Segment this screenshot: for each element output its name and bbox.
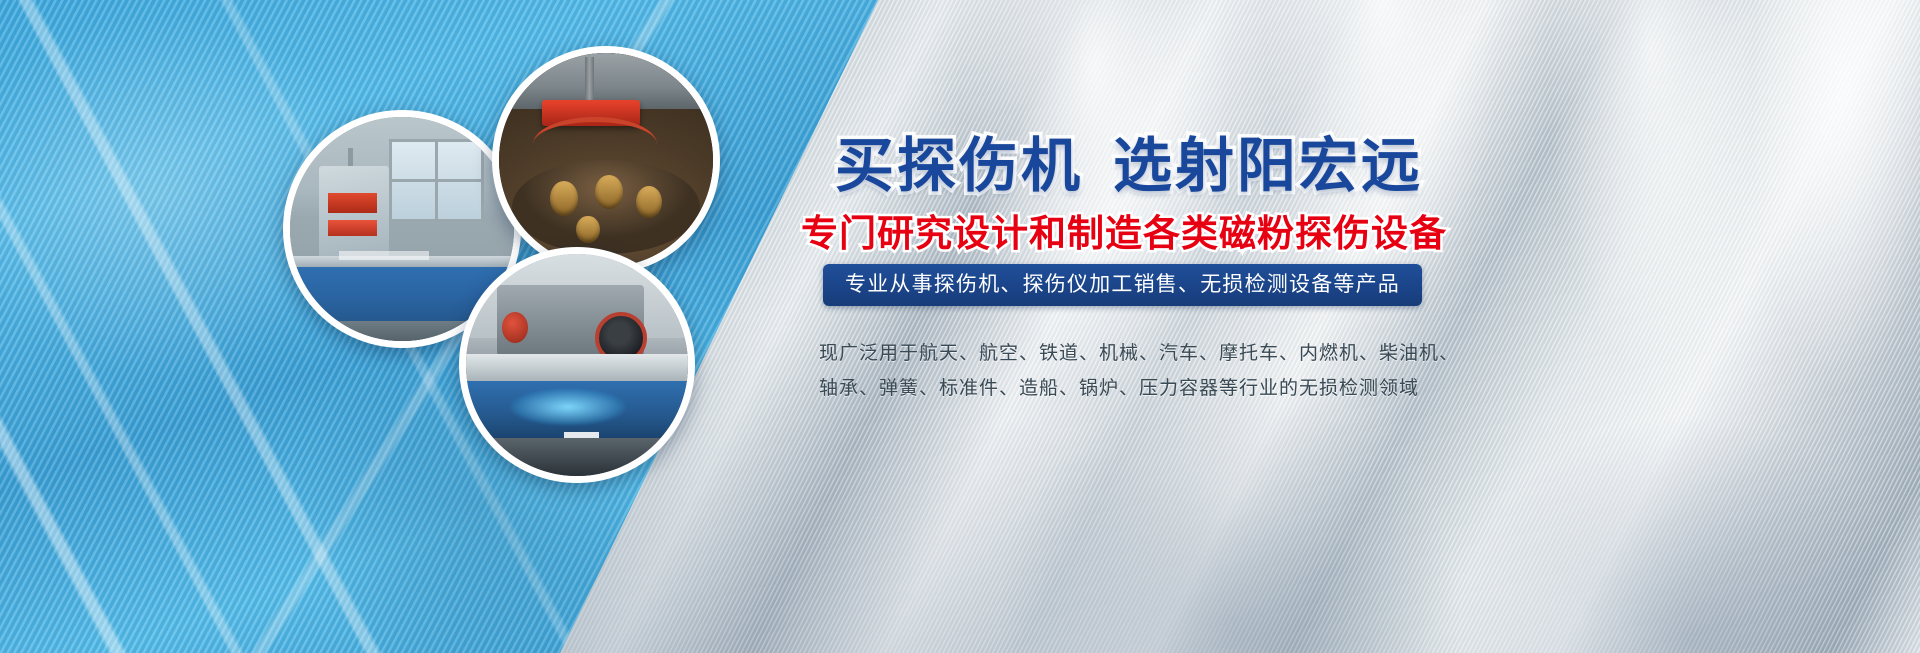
marketing-copy-block: 买探伤机选射阳宏远 专门研究设计和制造各类磁粉探伤设备 专业从事探伤机、探伤仪加… [795, 0, 1895, 653]
brass-boss-1 [550, 181, 578, 215]
headline: 买探伤机选射阳宏远 [835, 118, 1423, 203]
brass-boss-3 [636, 186, 662, 218]
window-shape [389, 139, 485, 221]
machine-red-part-1 [328, 193, 377, 213]
red-handwheel [502, 312, 529, 343]
machine-arm [585, 57, 594, 104]
headline-part-2: 选射阳宏远 [1113, 133, 1423, 199]
machine-red-part-2 [328, 220, 377, 236]
photo-3-scene [466, 254, 688, 476]
headline-part-1: 买探伤机 [835, 133, 1083, 199]
brass-boss-4 [576, 216, 600, 244]
fluorescent-glow [506, 387, 630, 427]
body-text-line-1: 现广泛用于航天、航空、铁道、机械、汽车、摩托车、内燃机、柴油机、 [819, 338, 1459, 365]
product-photo-bench-detector [459, 247, 695, 483]
bench-surface [466, 354, 688, 381]
product-photo-flange-inspection [492, 46, 720, 274]
promo-banner: 买探伤机选射阳宏远 专门研究设计和制造各类磁粉探伤设备 专业从事探伤机、探伤仪加… [0, 0, 1920, 653]
photo-2-scene [499, 53, 713, 267]
subtitle-red: 专门研究设计和制造各类磁粉探伤设备 [801, 203, 1447, 257]
machine-label-plate [339, 251, 429, 260]
floor-shadow [466, 438, 688, 476]
service-badge: 专业从事探伤机、探伤仪加工销售、无损检测设备等产品 [823, 264, 1422, 306]
body-text-line-2: 轴承、弹簧、标准件、造船、锅炉、压力容器等行业的无损检测领域 [819, 373, 1419, 400]
